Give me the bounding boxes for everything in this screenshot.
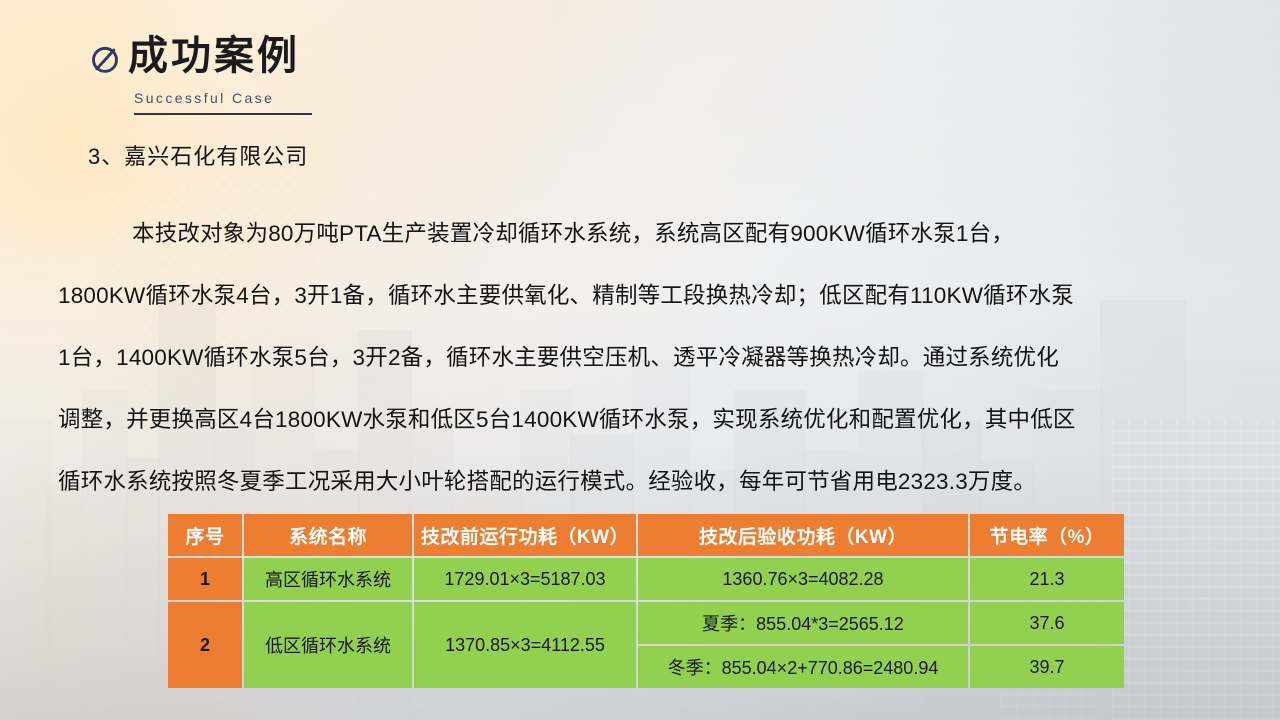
th-before: 技改前运行功耗（KW） — [414, 514, 636, 556]
cell-after-summer: 夏季：855.04*3=2565.12 — [638, 602, 968, 644]
table-row: 2 低区循环水系统 1370.85×3=4112.55 夏季：855.04*3=… — [168, 602, 1124, 644]
page-subtitle: Successful Case — [134, 90, 312, 106]
title-row: 成功案例 — [88, 36, 312, 76]
cell-after-winter: 冬季：855.04×2+770.86=2480.94 — [638, 646, 968, 688]
title-underline — [134, 113, 312, 115]
page-title: 成功案例 — [128, 36, 300, 76]
table-header-row: 序号 系统名称 技改前运行功耗（KW） 技改后验收功耗（KW） 节电率（%） — [168, 514, 1124, 556]
slide-canvas: 成功案例 Successful Case 3、嘉兴石化有限公司 本技改对象为80… — [0, 0, 1280, 720]
th-rate: 节电率（%） — [970, 514, 1124, 556]
paragraph-line: 本技改对象为80万吨PTA生产装置冷却循环水系统，系统高区配有900KW循环水泵… — [58, 203, 1258, 265]
cell-before: 1370.85×3=4112.55 — [414, 602, 636, 688]
results-table-wrapper: 序号 系统名称 技改前运行功耗（KW） 技改后验收功耗（KW） 节电率（%） 1… — [166, 512, 1114, 690]
cell-system: 高区循环水系统 — [244, 558, 412, 600]
paragraph-line: 1800KW循环水泵4台，3开1备，循环水主要供氧化、精制等工段换热冷却；低区配… — [58, 265, 1258, 327]
cell-rate-winter: 39.7 — [970, 646, 1124, 688]
th-after: 技改后验收功耗（KW） — [638, 514, 968, 556]
paragraph-line: 调整，并更换高区4台1800KW水泵和低区5台1400KW循环水泵，实现系统优化… — [58, 389, 1258, 451]
slashed-circle-icon — [88, 42, 122, 76]
cell-before: 1729.01×3=5187.03 — [414, 558, 636, 600]
cell-after: 1360.76×3=4082.28 — [638, 558, 968, 600]
cell-rate-summer: 37.6 — [970, 602, 1124, 644]
th-system: 系统名称 — [244, 514, 412, 556]
title-block: 成功案例 Successful Case — [88, 36, 312, 115]
cell-index: 1 — [168, 558, 242, 600]
paragraph-line: 1台，1400KW循环水泵5台，3开2备，循环水主要供空压机、透平冷凝器等换热冷… — [58, 327, 1258, 389]
body-paragraph: 本技改对象为80万吨PTA生产装置冷却循环水系统，系统高区配有900KW循环水泵… — [58, 203, 1258, 513]
cell-index: 2 — [168, 602, 242, 688]
table-row: 1 高区循环水系统 1729.01×3=5187.03 1360.76×3=40… — [168, 558, 1124, 600]
cell-system: 低区循环水系统 — [244, 602, 412, 688]
results-table: 序号 系统名称 技改前运行功耗（KW） 技改后验收功耗（KW） 节电率（%） 1… — [166, 512, 1126, 690]
th-index: 序号 — [168, 514, 242, 556]
slide-content: 成功案例 Successful Case 3、嘉兴石化有限公司 本技改对象为80… — [0, 0, 1280, 720]
cell-rate: 21.3 — [970, 558, 1124, 600]
company-heading: 3、嘉兴石化有限公司 — [88, 139, 308, 171]
paragraph-line: 循环水系统按照冬夏季工况采用大小叶轮搭配的运行模式。经验收，每年可节省用电232… — [58, 451, 1258, 513]
